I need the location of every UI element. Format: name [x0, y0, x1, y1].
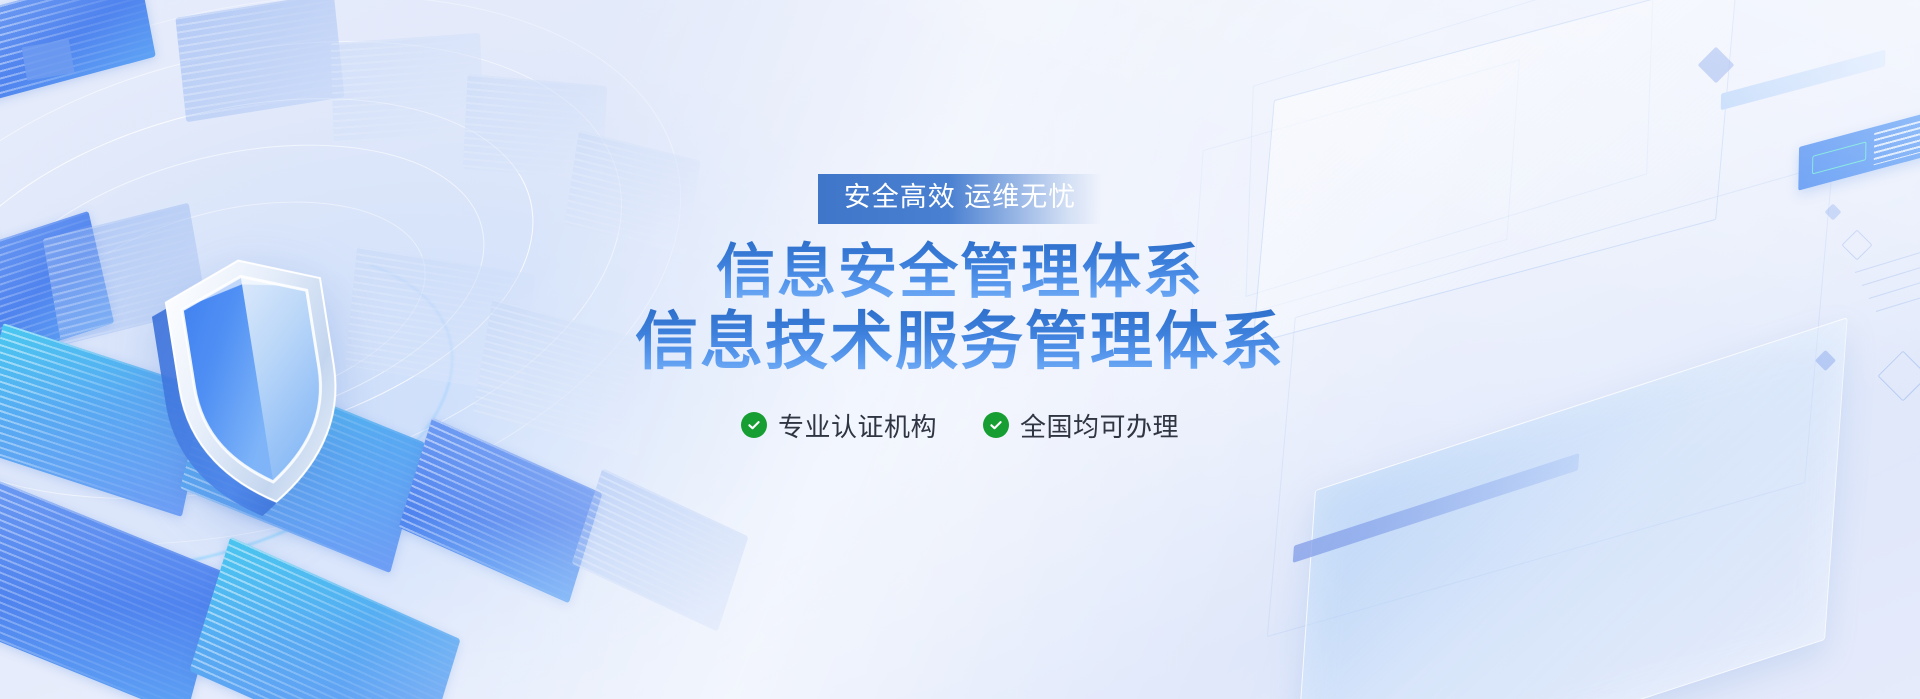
data-panel [399, 418, 603, 604]
tagline-badge: 安全高效 运维无忧 [818, 174, 1103, 224]
glass-plate-edge [1293, 453, 1580, 563]
data-panel [0, 463, 225, 699]
feature-label: 全国均可办理 [1020, 407, 1179, 444]
data-panel [572, 468, 749, 631]
feature-item-1: 专业认证机构 [741, 407, 937, 444]
check-circle-icon [741, 412, 767, 438]
headline-line-2: 信息技术服务管理体系 [0, 305, 1920, 379]
hero-banner: 安全高效 运维无忧 信息安全管理体系 信息技术服务管理体系 专业认证机构 全国 [0, 0, 1920, 699]
feature-list: 专业认证机构 全国均可办理 [0, 407, 1920, 444]
data-panel [189, 537, 460, 699]
feature-item-2: 全国均可办理 [983, 407, 1179, 444]
feature-label: 专业认证机构 [778, 407, 937, 444]
hero-content: 安全高效 运维无忧 信息安全管理体系 信息技术服务管理体系 专业认证机构 全国 [0, 0, 1920, 444]
check-circle-icon [983, 412, 1009, 438]
headline-line-1: 信息安全管理体系 [0, 238, 1920, 308]
